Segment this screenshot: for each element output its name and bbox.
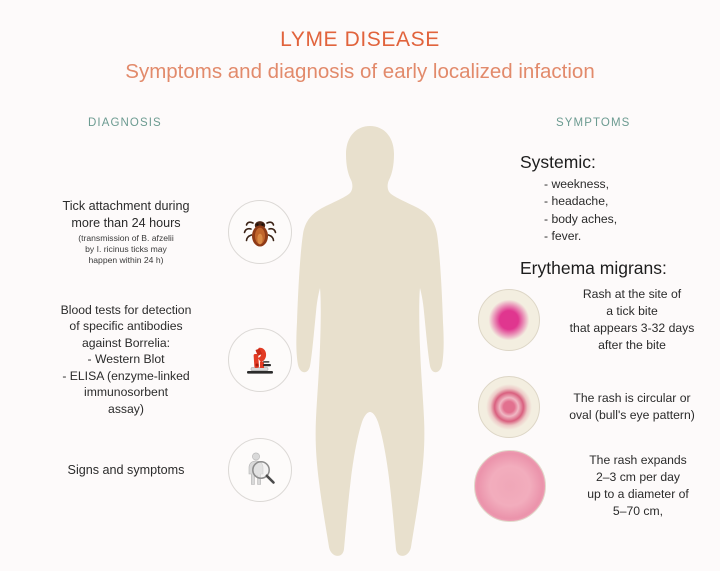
human-body-silhouette-icon [296,122,444,562]
diagnosis-item-text: Tick attachment during more than 24 hour… [38,198,214,267]
systemic-symptom-list: - weekness, - headache, - body aches, - … [544,176,617,245]
diagnosis-item-text: Blood tests for detection of specific an… [38,302,214,417]
tick-icon-circle [228,200,292,264]
erythema-stage-text: The rash is circular or oval (bull's eye… [548,390,716,424]
erythema-stage-1: Rash at the site of a tick bite that app… [478,286,716,354]
diagnosis-item-text: Signs and symptoms [38,462,214,479]
tick-icon [240,212,280,252]
page-title: LYME DISEASE [0,28,720,52]
rash-bullseye-icon [478,376,540,438]
page-subtitle: Symptoms and diagnosis of early localize… [0,60,720,84]
diagnosis-item-blood-tests: Blood tests for detection of specific an… [38,302,292,417]
diagnosis-item-tick-attachment: Tick attachment during more than 24 hour… [38,198,292,267]
erythema-stage-2: The rash is circular or oval (bull's eye… [478,376,716,438]
systemic-heading: Systemic: [520,152,617,173]
rash-expanded-icon [474,450,546,522]
diagnosis-item-title: Tick attachment during more than 24 hour… [38,198,214,232]
diagnosis-item-note: (transmission of B. afzelii by I. ricinu… [38,233,214,267]
lyme-disease-infographic: LYME DISEASE Symptoms and diagnosis of e… [0,0,720,571]
diagnosis-item-signs-symptoms: Signs and symptoms [38,438,292,502]
diagnosis-item-title: Signs and symptoms [38,462,214,479]
rash-spot-icon [478,289,540,351]
systemic-symptoms-block: Systemic: - weekness, - headache, - body… [520,152,617,245]
microscope-icon-circle [228,328,292,392]
symptoms-column-header: SYMPTOMS [556,117,630,129]
erythema-stage-text: The rash expands 2–3 cm per day up to a … [554,452,720,520]
erythema-stage-text: Rash at the site of a tick bite that app… [548,286,716,354]
erythema-stage-3: The rash expands 2–3 cm per day up to a … [474,450,720,522]
erythema-migrans-heading: Erythema migrans: [520,258,667,279]
person-magnifier-icon-circle [228,438,292,502]
person-magnifier-icon [238,448,282,492]
microscope-icon [240,340,280,380]
diagnosis-item-title: Blood tests for detection of specific an… [38,302,214,417]
diagnosis-column-header: DIAGNOSIS [88,117,162,129]
